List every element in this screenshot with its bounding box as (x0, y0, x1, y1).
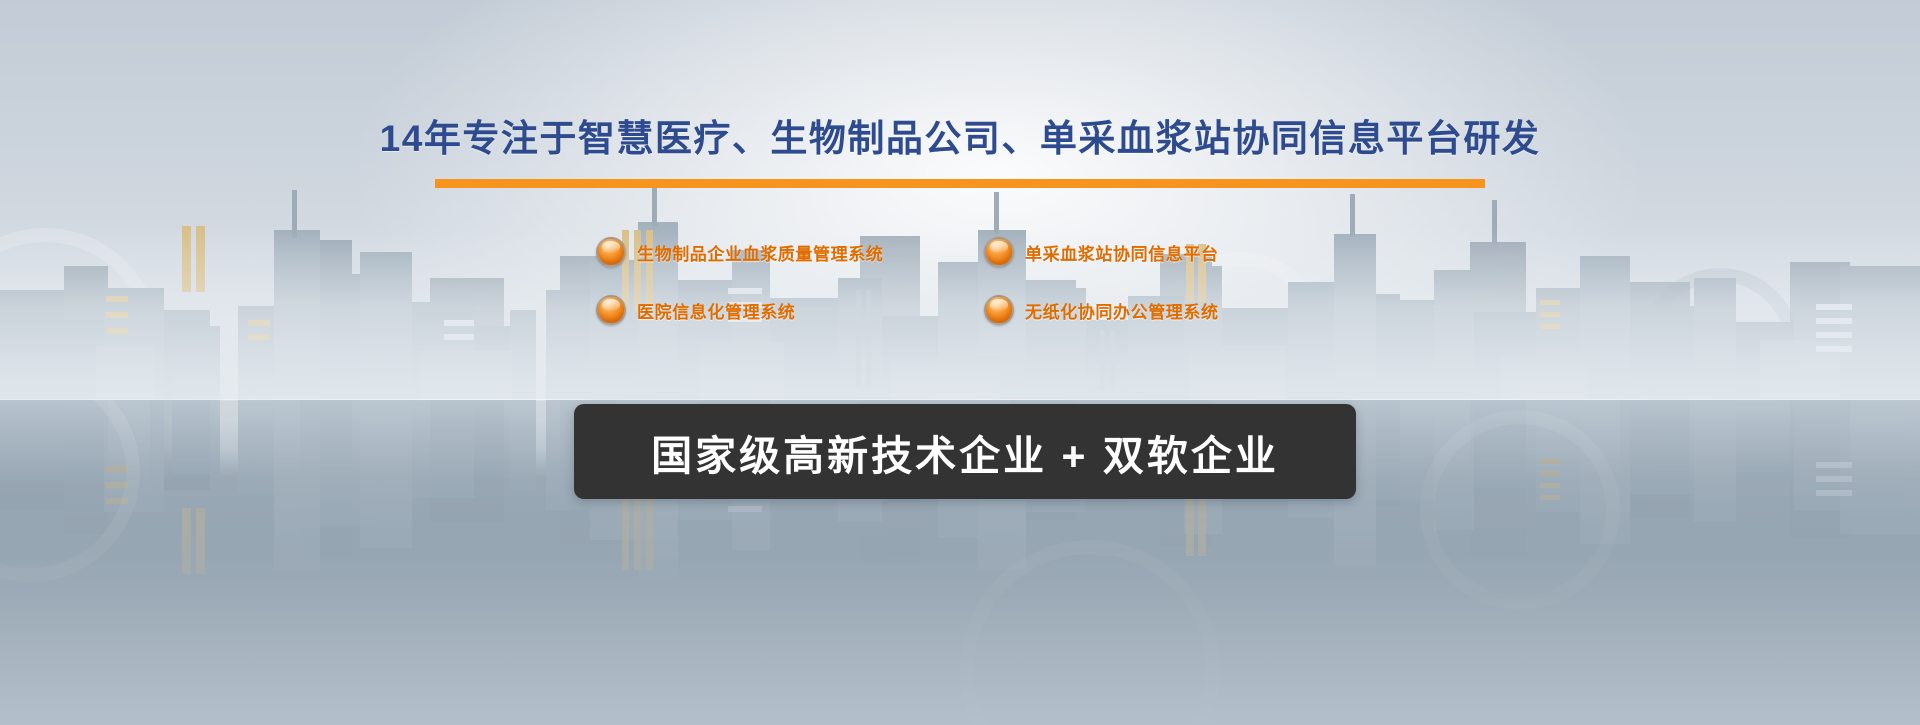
feature-label: 生物制品企业血浆质量管理系统 (637, 240, 883, 265)
orange-sphere-bullet-icon (984, 237, 1014, 267)
title-accent-underline (435, 179, 1485, 188)
status-badge: 国家级高新技术企业 + 双软企业 (651, 422, 1279, 482)
feature-label: 医院信息化管理系统 (637, 298, 795, 323)
certification-badge: 国家级高新技术企业 + 双软企业 (574, 404, 1356, 499)
feature-item-paperless-office[interactable]: 无纸化协同办公管理系统 (984, 286, 1276, 334)
hero-banner: 14年专注于智慧医疗、生物制品公司、单采血浆站协同信息平台研发 生物制品企业血浆… (0, 0, 1920, 725)
orange-sphere-bullet-icon (596, 237, 626, 267)
feature-row: 医院信息化管理系统 无纸化协同办公管理系统 (596, 286, 1276, 334)
page-title: 14年专注于智慧医疗、生物制品公司、单采血浆站协同信息平台研发 (0, 108, 1920, 162)
orange-sphere-bullet-icon (596, 295, 626, 325)
feature-label: 无纸化协同办公管理系统 (1025, 298, 1219, 323)
feature-item-plasma-quality[interactable]: 生物制品企业血浆质量管理系统 (596, 228, 984, 276)
feature-row: 生物制品企业血浆质量管理系统 单采血浆站协同信息平台 (596, 228, 1276, 276)
feature-list: 生物制品企业血浆质量管理系统 单采血浆站协同信息平台 医院信息化管理系统 无纸化… (596, 228, 1276, 334)
feature-item-hospital-information[interactable]: 医院信息化管理系统 (596, 286, 984, 334)
feature-item-plasma-station[interactable]: 单采血浆站协同信息平台 (984, 228, 1276, 276)
orange-sphere-bullet-icon (984, 295, 1014, 325)
feature-label: 单采血浆站协同信息平台 (1025, 240, 1219, 265)
banner-content: 14年专注于智慧医疗、生物制品公司、单采血浆站协同信息平台研发 生物制品企业血浆… (0, 0, 1920, 725)
